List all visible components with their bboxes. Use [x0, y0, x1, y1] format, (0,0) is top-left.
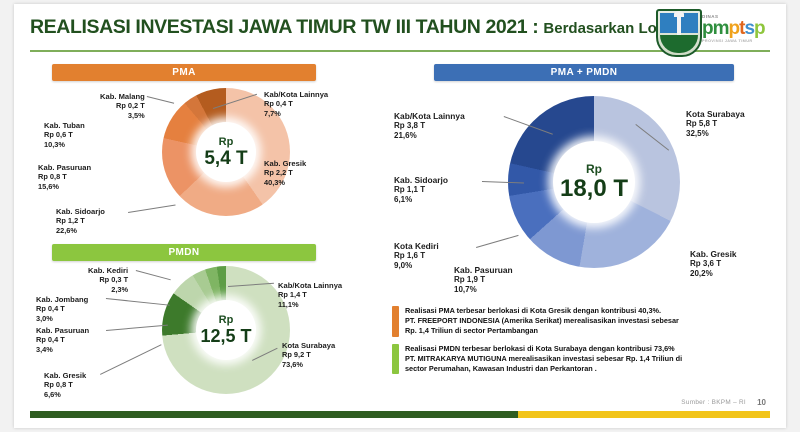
pmdn-center-value: 12,5 T [200, 327, 251, 345]
pmdn-label-kab-kota-lainnya-percent: 11,1% [278, 300, 342, 309]
total-label-kab-kota-lainnya-name: Kab/Kota Lainnya [394, 112, 465, 121]
total-label-kab-gresik-value: Rp 3,6 T [690, 259, 737, 268]
pmdn-label-kab-kediri-name: Kab. Kediri [88, 266, 128, 275]
pmdn-label-kab-kediri: Kab. Kediri Rp 0,3 T 2,3% [88, 266, 128, 294]
wordmark-province: PROVINSI JAWA TIMUR [702, 39, 778, 43]
total-label-kota-kediri-percent: 9,0% [394, 261, 439, 270]
total-label-kab-gresik-name: Kab. Gresik [690, 250, 737, 259]
pma-label-kab-sidoarjo-percent: 22,6% [56, 226, 105, 235]
pma-label-kab-pasuruan-percent: 15,6% [38, 182, 91, 191]
note-pma: Realisasi PMA terbesar berlokasi di Kota… [392, 306, 774, 337]
pma-label-kab-kota-lainnya: Kab/Kota Lainnya Rp 0,4 T 7,7% [264, 90, 328, 118]
note-pmdn: Realisasi PMDN terbesar berlokasi di Kot… [392, 344, 774, 375]
pma-leader-malang [147, 96, 174, 104]
pmdn-label-kab-jombang-name: Kab. Jombang [36, 295, 88, 304]
note-pmdn-line-3: sector Perumahan, Kawasan Industri dan P… [405, 364, 682, 374]
pma-leader-sidoarjo [128, 204, 176, 212]
pmdn-label-kab-kota-lainnya-value: Rp 1,4 T [278, 290, 342, 299]
total-label-kota-surabaya-name: Kota Surabaya [686, 110, 745, 119]
section-banner-total: PMA + PMDN [434, 64, 734, 81]
total-label-kota-kediri-name: Kota Kediri [394, 242, 439, 251]
pma-label-kab-malang: Kab. Malang Rp 0,2 T 3,5% [100, 92, 145, 120]
total-label-kab-kota-lainnya: Kab/Kota Lainnya Rp 3,8 T 21,6% [394, 112, 465, 140]
total-center-value: 18,0 T [560, 177, 628, 201]
total-leader-sidoarjo [482, 181, 524, 183]
total-label-kab-kota-lainnya-value: Rp 3,8 T [394, 121, 465, 130]
wordmark-letters: pmptsp [702, 19, 778, 38]
footer-bar-dark [30, 411, 518, 418]
pma-label-kab-tuban: Kab. Tuban Rp 0,6 T 10,3% [44, 121, 85, 149]
note-pmdn-line-2: PT. MITRAKARYA MUTIGUNA merealisasikan i… [405, 354, 682, 364]
wordmark-p: p [729, 18, 740, 39]
pmdn-label-kab-pasuruan-name: Kab. Pasuruan [36, 326, 89, 335]
pma-label-kab-sidoarjo-name: Kab. Sidoarjo [56, 207, 105, 216]
total-label-kab-sidoarjo: Kab. Sidoarjo Rp 1,1 T 6,1% [394, 176, 448, 204]
pmdn-center-prefix: Rp [219, 315, 234, 326]
pma-label-kab-pasuruan-name: Kab. Pasuruan [38, 163, 91, 172]
note-pmdn-line-1: Realisasi PMDN terbesar berlokasi di Kot… [405, 344, 682, 354]
pma-label-kab-tuban-percent: 10,3% [44, 140, 85, 149]
slide-header: REALISASI INVESTASI JAWA TIMUR TW III TA… [14, 4, 786, 56]
total-label-kab-gresik-percent: 20,2% [690, 269, 737, 278]
notes-panel: Realisasi PMA terbesar berlokasi di Kota… [392, 306, 774, 381]
total-label-kab-gresik: Kab. Gresik Rp 3,6 T 20,2% [690, 250, 737, 278]
pmdn-donut-chart: Rp 12,5 T [162, 266, 290, 394]
total-label-kab-kota-lainnya-percent: 21,6% [394, 131, 465, 140]
note-pma-line-2: PT. FREEPORT INDONESIA (Amerika Serikat)… [405, 316, 679, 326]
pmdn-label-kab-gresik-name: Kab. Gresik [44, 371, 86, 380]
pmdn-leader-jombang [106, 298, 170, 306]
note-pmdn-text: Realisasi PMDN terbesar berlokasi di Kot… [405, 344, 682, 375]
pmdn-label-kab-kediri-value: Rp 0,3 T [88, 275, 128, 284]
pmdn-label-kab-kota-lainnya: Kab/Kota Lainnya Rp 1,4 T 11,1% [278, 281, 342, 309]
total-label-kota-surabaya-value: Rp 5,8 T [686, 119, 745, 128]
section-banner-pma: PMA [52, 64, 316, 81]
total-label-kab-pasuruan-percent: 10,7% [454, 285, 513, 294]
logo: DINAS pmptsp PROVINSI JAWA TIMUR [656, 8, 778, 54]
wordmark-pm: pm [702, 18, 729, 39]
note-pmdn-swatch [392, 344, 399, 375]
pmdn-label-kab-pasuruan: Kab. Pasuruan Rp 0,4 T 3,4% [36, 326, 89, 354]
pma-label-kab-kota-lainnya-value: Rp 0,4 T [264, 99, 328, 108]
total-label-kab-sidoarjo-name: Kab. Sidoarjo [394, 176, 448, 185]
pma-donut-center: Rp 5,4 T [196, 122, 256, 182]
total-label-kab-pasuruan-name: Kab. Pasuruan [454, 266, 513, 275]
total-label-kota-surabaya-percent: 32,5% [686, 129, 745, 138]
pmdn-label-kota-surabaya-name: Kota Surabaya [282, 341, 335, 350]
total-label-kab-pasuruan-value: Rp 1,9 T [454, 275, 513, 284]
total-label-kota-kediri: Kota Kediri Rp 1,6 T 9,0% [394, 242, 439, 270]
pma-label-kab-gresik-percent: 40,3% [264, 178, 306, 187]
pmdn-label-kota-surabaya-percent: 73,6% [282, 360, 335, 369]
page-number: 10 [757, 398, 766, 407]
pma-label-kab-sidoarjo-value: Rp 1,2 T [56, 216, 105, 225]
pma-label-kab-tuban-value: Rp 0,6 T [44, 130, 85, 139]
total-label-kab-sidoarjo-percent: 6,1% [394, 195, 448, 204]
pmdn-leader-pasuruan [106, 325, 168, 331]
pmdn-label-kab-jombang: Kab. Jombang Rp 0,4 T 3,0% [36, 295, 88, 323]
pmdn-leader-kediri [136, 270, 171, 280]
pma-center-prefix: Rp [219, 137, 234, 148]
page-title: REALISASI INVESTASI JAWA TIMUR TW III TA… [30, 16, 650, 39]
total-center-prefix: Rp [586, 164, 602, 175]
pma-label-kab-sidoarjo: Kab. Sidoarjo Rp 1,2 T 22,6% [56, 207, 105, 235]
pmdn-donut-center: Rp 12,5 T [196, 300, 256, 360]
pmdn-label-kab-gresik: Kab. Gresik Rp 0,8 T 6,6% [44, 371, 86, 399]
source-label: Sumber : BKPM – RI [681, 399, 746, 406]
pma-label-kab-kota-lainnya-name: Kab/Kota Lainnya [264, 90, 328, 99]
total-label-kota-kediri-value: Rp 1,6 T [394, 251, 439, 260]
note-pma-text: Realisasi PMA terbesar berlokasi di Kota… [405, 306, 679, 337]
footer-bar-gold [518, 411, 770, 418]
section-banner-pmdn: PMDN [52, 244, 316, 261]
pmdn-label-kab-gresik-percent: 6,6% [44, 390, 86, 399]
pma-label-kab-gresik: Kab. Gresik Rp 2,2 T 40,3% [264, 159, 306, 187]
emblem-base [660, 35, 698, 53]
slide-page: REALISASI INVESTASI JAWA TIMUR TW III TA… [14, 4, 786, 428]
note-pma-swatch [392, 306, 399, 337]
wordmark-p2: p [754, 18, 765, 39]
total-label-kota-surabaya: Kota Surabaya Rp 5,8 T 32,5% [686, 110, 745, 138]
pmdn-label-kab-kediri-percent: 2,3% [88, 285, 128, 294]
pma-label-kab-tuban-name: Kab. Tuban [44, 121, 85, 130]
total-donut-center: Rp 18,0 T [553, 141, 635, 223]
wordmark-s: s [744, 18, 754, 39]
note-pma-line-1: Realisasi PMA terbesar berlokasi di Kota… [405, 306, 679, 316]
pma-label-kab-kota-lainnya-percent: 7,7% [264, 109, 328, 118]
pmdn-label-kab-jombang-percent: 3,0% [36, 314, 88, 323]
logo-wordmark: DINAS pmptsp PROVINSI JAWA TIMUR [702, 14, 778, 43]
pma-label-kab-malang-name: Kab. Malang [100, 92, 145, 101]
pma-label-kab-pasuruan-value: Rp 0,8 T [38, 172, 91, 181]
pma-label-kab-malang-percent: 3,5% [100, 111, 145, 120]
pmdn-label-kota-surabaya: Kota Surabaya Rp 9,2 T 73,6% [282, 341, 335, 369]
note-pma-line-3: Rp. 1,4 Triliun di sector Pertambangan [405, 326, 679, 336]
slide-canvas: REALISASI INVESTASI JAWA TIMUR TW III TA… [0, 0, 800, 432]
pmdn-label-kab-pasuruan-percent: 3,4% [36, 345, 89, 354]
pmdn-label-kab-kota-lainnya-name: Kab/Kota Lainnya [278, 281, 342, 290]
pmdn-label-kab-gresik-value: Rp 0,8 T [44, 380, 86, 389]
pmdn-label-kota-surabaya-value: Rp 9,2 T [282, 350, 335, 359]
total-label-kab-pasuruan: Kab. Pasuruan Rp 1,9 T 10,7% [454, 266, 513, 294]
footer-bar [30, 411, 770, 418]
page-title-separator: : [527, 16, 543, 38]
pmdn-label-kab-jombang-value: Rp 0,4 T [36, 304, 88, 313]
pmdn-label-kab-pasuruan-value: Rp 0,4 T [36, 335, 89, 344]
page-title-main: REALISASI INVESTASI JAWA TIMUR TW III TA… [30, 16, 527, 38]
pma-label-kab-malang-value: Rp 0,2 T [100, 101, 145, 110]
total-leader-kediri [476, 235, 519, 248]
total-label-kab-sidoarjo-value: Rp 1,1 T [394, 185, 448, 194]
pma-label-kab-gresik-value: Rp 2,2 T [264, 168, 306, 177]
total-donut-chart: Rp 18,0 T [508, 96, 680, 268]
pma-center-value: 5,4 T [204, 149, 247, 168]
pmdn-leader-gresik [100, 344, 162, 375]
pma-label-kab-pasuruan: Kab. Pasuruan Rp 0,8 T 15,6% [38, 163, 91, 191]
east-java-province-emblem-icon [656, 9, 702, 57]
pma-label-kab-gresik-name: Kab. Gresik [264, 159, 306, 168]
